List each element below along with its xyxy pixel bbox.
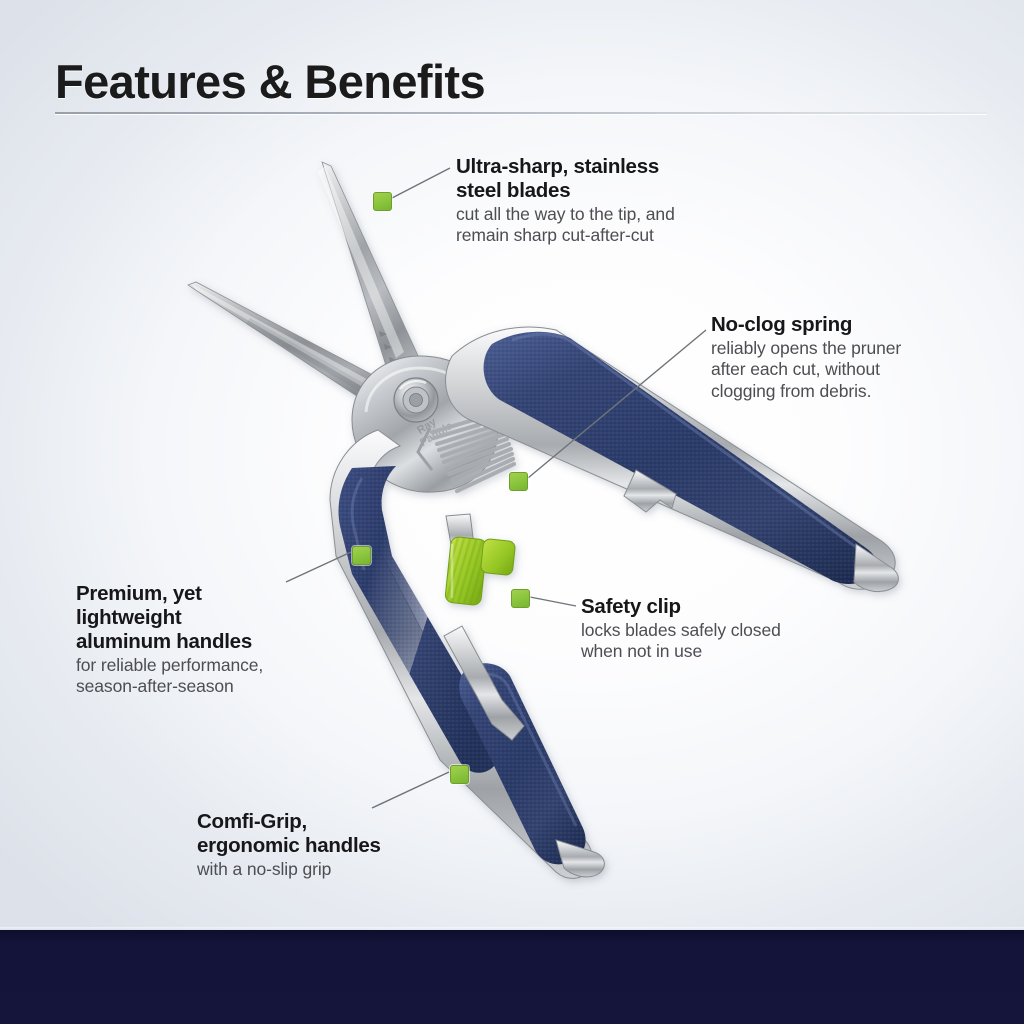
svg-text:Padula: Padula	[418, 419, 456, 449]
footer-bar	[0, 930, 1024, 1024]
callout-safety-body: locks blades safely closed when not in u…	[581, 620, 821, 663]
pivot-head: Ray Padula	[352, 356, 498, 492]
header: Features & Benefits	[55, 58, 990, 105]
leader-line-aluminum	[286, 552, 351, 582]
blade-lower	[188, 282, 418, 418]
callout-aluminum-title: Premium, yet lightweight aluminum handle…	[76, 582, 326, 654]
callout-safety: Safety clip locks blades safely closed w…	[581, 595, 821, 663]
marker-safety[interactable]	[511, 589, 530, 608]
svg-text:Ray: Ray	[415, 416, 439, 437]
marker-aluminum[interactable]	[352, 546, 371, 565]
callout-safety-title: Safety clip	[581, 595, 821, 619]
brand-engraving: Ray Padula	[412, 409, 456, 449]
marker-spring[interactable]	[509, 472, 528, 491]
leader-line-blades	[392, 168, 450, 198]
pivot-bolt	[394, 378, 438, 422]
leader-line-comfi	[372, 772, 449, 808]
infographic-page: Features & Benefits	[0, 0, 1024, 1024]
callout-spring: No-clog spring reliably opens the pruner…	[711, 313, 941, 402]
title-divider	[55, 112, 987, 114]
marker-blades[interactable]	[373, 192, 392, 211]
callout-blades-title: Ultra-sharp, stainless steel blades	[456, 155, 741, 203]
callout-blades-body: cut all the way to the tip, and remain s…	[456, 204, 741, 247]
callout-blades: Ultra-sharp, stainless steel blades cut …	[456, 155, 741, 247]
callout-spring-title: No-clog spring	[711, 313, 941, 337]
safety-clip	[445, 514, 516, 606]
callout-comfi-grip: Comfi-Grip, ergonomic handles with a no-…	[197, 810, 457, 880]
callout-comfi-grip-title: Comfi-Grip, ergonomic handles	[197, 810, 457, 858]
callout-comfi-grip-body: with a no-slip grip	[197, 859, 457, 880]
leader-line-spring	[528, 330, 706, 478]
spring-anchor	[418, 406, 530, 470]
callout-aluminum-body: for reliable performance, season-after-s…	[76, 655, 326, 698]
leader-line-safety	[530, 597, 576, 606]
callout-spring-body: reliably opens the pruner after each cut…	[711, 338, 941, 402]
callout-aluminum: Premium, yet lightweight aluminum handle…	[76, 582, 326, 698]
marker-comfi[interactable]	[450, 765, 469, 784]
callout-leader-lines	[0, 0, 1024, 1024]
product-image: Ray Padula	[0, 0, 1024, 1024]
page-title: Features & Benefits	[55, 58, 990, 105]
coil-spring	[432, 414, 514, 491]
